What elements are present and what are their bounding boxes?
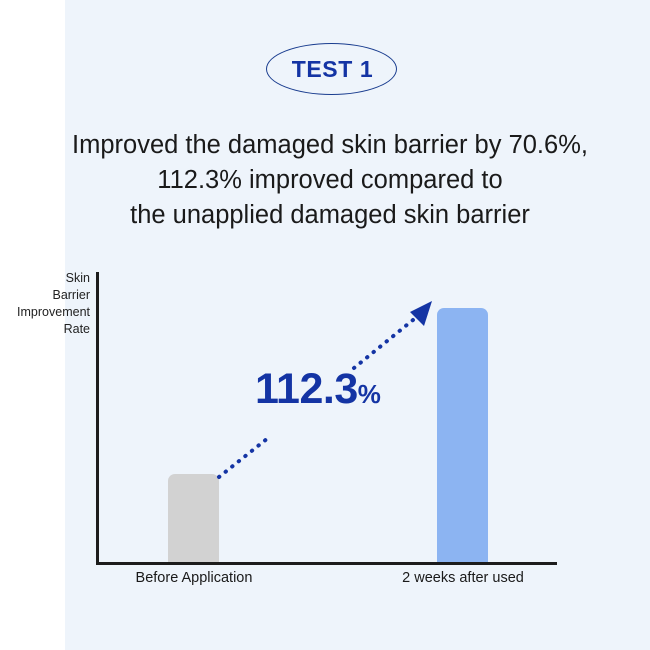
x-axis-label-two-weeks-after-used: 2 weeks after used (372, 570, 554, 586)
y-axis-label-line-3: Improvement (0, 304, 90, 321)
bar-chart: Skin Barrier Improvement Rate Before App… (0, 0, 650, 650)
callout-unit: % (358, 379, 381, 409)
callout-number: 112.3 (255, 365, 358, 413)
y-axis-label-line-1: Skin (0, 270, 90, 287)
bar-before-application (168, 474, 219, 562)
y-axis-label-line-4: Rate (0, 321, 90, 338)
x-axis-line (96, 562, 557, 565)
y-axis-label: Skin Barrier Improvement Rate (0, 270, 90, 338)
callout-value: 112.3% (255, 365, 381, 414)
y-axis-line (96, 272, 99, 565)
infographic-page: TEST 1 Improved the damaged skin barrier… (0, 0, 650, 650)
x-axis-label-before-application: Before Application (103, 570, 285, 586)
bar-two-weeks-after-used (437, 308, 488, 562)
y-axis-label-line-2: Barrier (0, 287, 90, 304)
